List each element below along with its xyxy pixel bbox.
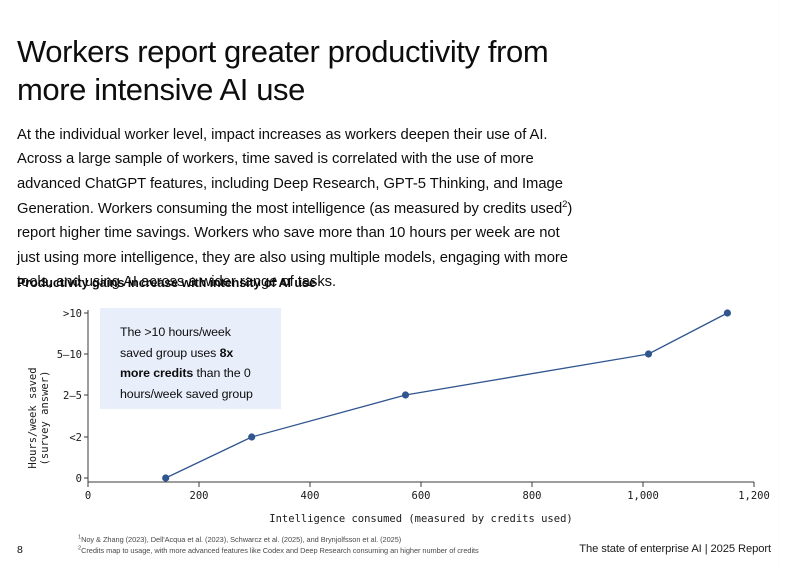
page-title: Workers report greater productivity from… <box>17 33 577 109</box>
callout-text-line1: The >10 hours/week <box>120 325 231 339</box>
y-axis: >10 5–10 2–5 <2 0 <box>57 308 88 485</box>
y-axis-label: Hours/week saved (survey answer) <box>27 367 51 468</box>
y-axis-label-line1: Hours/week saved <box>27 367 39 468</box>
y-tick-label-5-10: 5–10 <box>57 349 82 361</box>
callout-text-line4: hours/week saved group <box>120 387 253 401</box>
slide: Workers report greater productivity from… <box>0 0 790 570</box>
y-tick-label-lt2: <2 <box>69 432 82 444</box>
data-point-572 <box>402 391 409 398</box>
x-tick-label-400: 400 <box>301 490 320 502</box>
x-axis-label: Intelligence consumed (measured by credi… <box>269 513 572 525</box>
footer-report-label: The state of enterprise AI | 2025 Report <box>579 543 771 555</box>
x-tick-label-600: 600 <box>412 490 431 502</box>
footnote-2: 2Credits map to usage, with more advance… <box>78 546 578 557</box>
y-tick-label-gt10: >10 <box>63 308 82 320</box>
callout-text-line2-pre: saved group uses <box>120 346 220 360</box>
page-number: 8 <box>17 544 23 556</box>
data-point-1152 <box>724 309 731 316</box>
callout-box: The >10 hours/week saved group uses 8x m… <box>100 308 281 409</box>
body-text-part-1: At the individual worker level, impact i… <box>17 127 563 217</box>
data-point-295 <box>248 433 255 440</box>
footnote-1-text: Noy & Zhang (2023), Dell'Acqua et al. (2… <box>81 535 401 544</box>
y-axis-label-line2: (survey answer) <box>39 371 51 466</box>
data-point-1010 <box>645 350 652 357</box>
x-tick-label-200: 200 <box>190 490 209 502</box>
callout-text-more-credits: more credits <box>120 366 193 380</box>
footnotes: 1Noy & Zhang (2023), Dell'Acqua et al. (… <box>78 535 578 556</box>
callout-text-line3-post: than the 0 <box>193 366 250 380</box>
x-axis: 0 200 400 600 800 1,000 1,200 Intelligen… <box>85 482 770 525</box>
footnote-1: 1Noy & Zhang (2023), Dell'Acqua et al. (… <box>78 535 578 546</box>
x-tick-label-1200: 1,200 <box>738 490 770 502</box>
body-paragraph: At the individual worker level, impact i… <box>17 123 583 295</box>
y-tick-label-0: 0 <box>76 473 82 485</box>
callout-text-8x: 8x <box>220 346 234 360</box>
x-tick-label-1000: 1,000 <box>627 490 659 502</box>
chart-title: Productivity gains increase with intensi… <box>17 276 316 290</box>
x-tick-label-0: 0 <box>85 490 91 502</box>
data-point-140 <box>162 474 169 481</box>
x-tick-label-800: 800 <box>523 490 542 502</box>
y-tick-label-2-5: 2–5 <box>63 390 82 402</box>
footnote-2-text: Credits map to usage, with more advanced… <box>81 546 479 555</box>
